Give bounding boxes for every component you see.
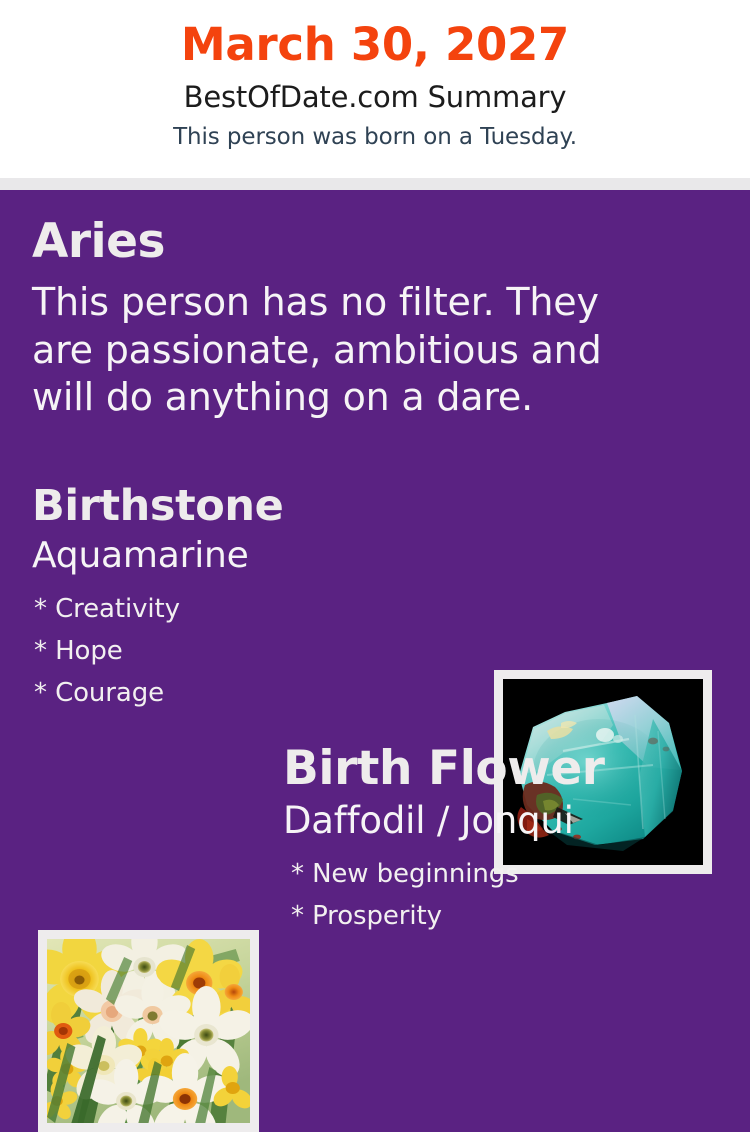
- list-item: * Prosperity: [283, 887, 723, 929]
- list-item: * New beginnings: [283, 845, 723, 887]
- birthflower-image: [47, 939, 250, 1123]
- birthflower-image-frame: [38, 930, 259, 1132]
- birthflower-heading: Birth Flower: [283, 745, 723, 792]
- zodiac-sign-title: Aries: [32, 218, 672, 265]
- birthflower-name: Daffodil / Jonqui: [283, 792, 723, 839]
- list-item: * Creativity: [32, 580, 462, 622]
- weekday-statement: This person was born on a Tuesday.: [0, 112, 750, 149]
- zodiac-description: This person has no filter. They are pass…: [32, 265, 657, 422]
- site-title: BestOfDate.com Summary: [0, 67, 750, 112]
- summary-header: March 30, 2027 BestOfDate.com Summary Th…: [0, 0, 750, 178]
- list-item: * Courage: [32, 664, 462, 706]
- birthflower-trait-list: * New beginnings * Prosperity: [283, 839, 723, 929]
- zodiac-section: Aries This person has no filter. They ar…: [32, 218, 672, 422]
- daffodil-field-icon: [47, 939, 250, 1123]
- birthstone-trait-list: * Creativity * Hope * Courage: [32, 574, 462, 706]
- birthstone-section: Birthstone Aquamarine * Creativity * Hop…: [32, 485, 462, 706]
- birthstone-heading: Birthstone: [32, 485, 462, 528]
- list-item: * Hope: [32, 622, 462, 664]
- birthstone-name: Aquamarine: [32, 528, 462, 574]
- birthflower-section: Birth Flower Daffodil / Jonqui * New beg…: [283, 745, 723, 929]
- header-divider: [0, 178, 750, 190]
- summary-panel: Aries This person has no filter. They ar…: [0, 190, 750, 1000]
- page-title-date: March 30, 2027: [0, 22, 750, 67]
